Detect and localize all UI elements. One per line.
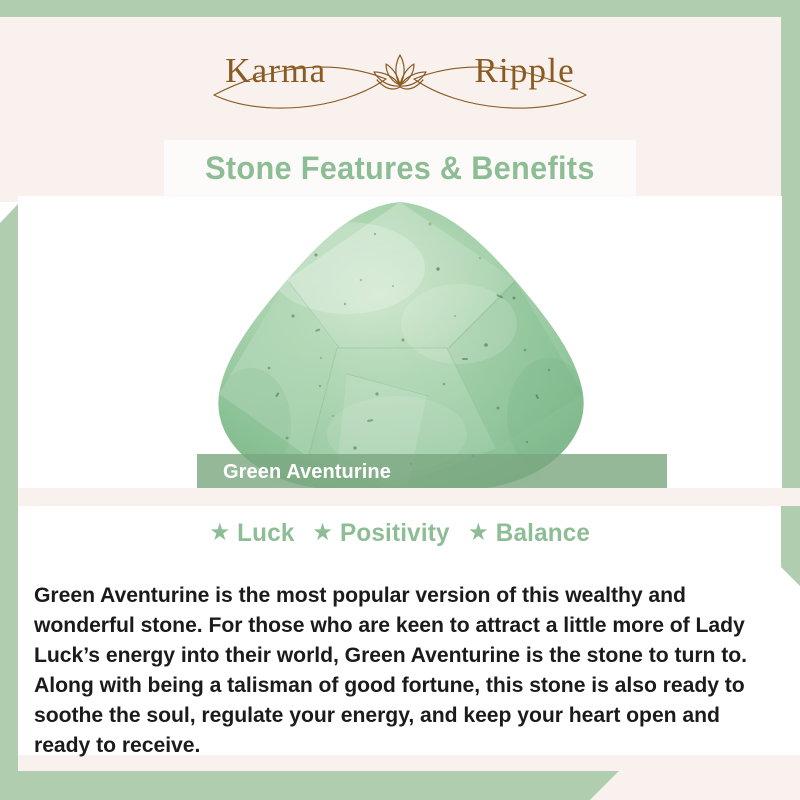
benefit-label: Positivity [340, 519, 450, 548]
stone-description-text: Green Aventurine is the most popular ver… [34, 580, 765, 760]
frame-bottom-bar [0, 770, 620, 800]
frame-top-bar [0, 0, 800, 18]
stone-name-band: Green Aventurine [197, 454, 667, 488]
star-icon: ★ [468, 521, 489, 545]
star-icon: ★ [312, 521, 333, 545]
cream-corner-wedge [590, 770, 800, 800]
page-title: Stone Features & Benefits [205, 150, 595, 187]
benefit-label: Luck [237, 519, 294, 548]
green-aventurine-stone-illustration [197, 198, 603, 488]
stone-name-label: Green Aventurine [223, 461, 391, 484]
benefit-item-balance: ★ Balance [468, 519, 590, 548]
cream-divider-strip [18, 488, 800, 506]
benefits-list: ★ Luck ★ Positivity ★ Balance [18, 512, 782, 554]
benefit-label: Balance [496, 519, 590, 548]
benefit-item-positivity: ★ Positivity [312, 519, 450, 548]
star-icon: ★ [209, 521, 230, 545]
headline-banner: Stone Features & Benefits [164, 140, 636, 197]
benefit-item-luck: ★ Luck [209, 519, 294, 548]
stone-photo: Green Aventurine [197, 198, 603, 488]
frame-left-bar [0, 204, 18, 800]
hero-image-area: Green Aventurine [18, 196, 782, 488]
stone-benefits-infographic: Karma Ripple Stone Features & Benefits [0, 0, 800, 800]
